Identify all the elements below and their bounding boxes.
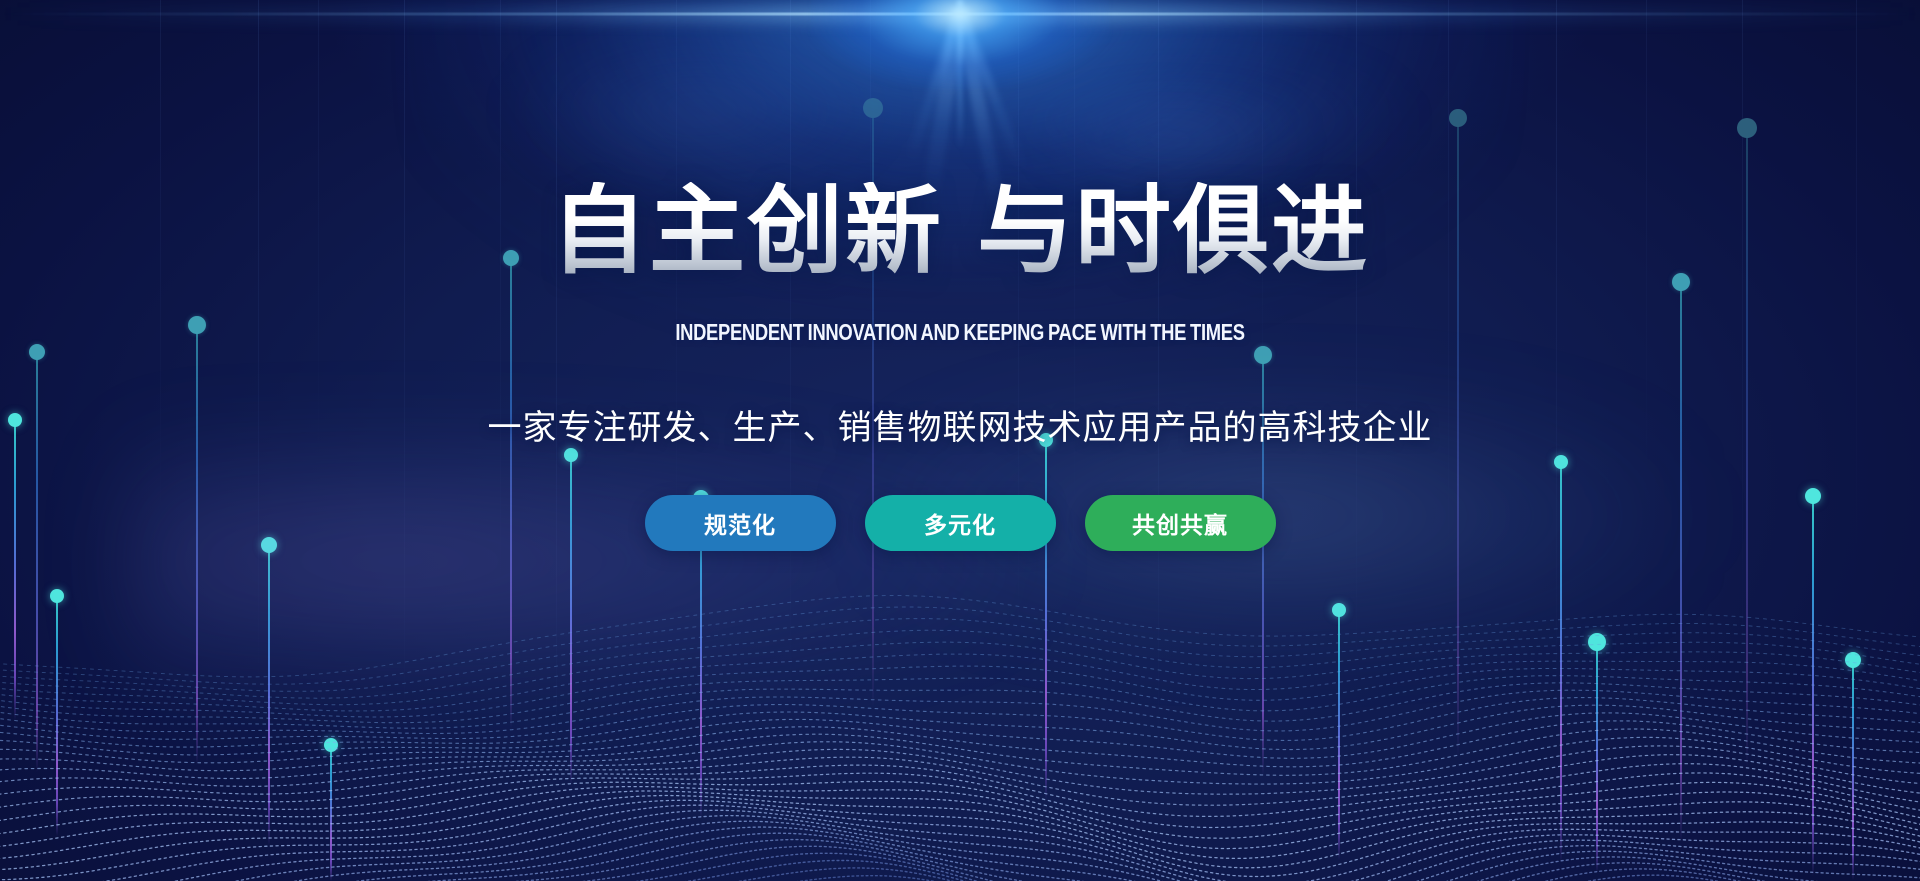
page-title: 自主创新与时俱进 bbox=[0, 182, 1920, 282]
pill-standardization[interactable]: 规范化 bbox=[645, 495, 836, 551]
pill-diversification[interactable]: 多元化 bbox=[865, 495, 1056, 551]
pill-group: 规范化多元化共创共赢 bbox=[0, 495, 1920, 551]
tagline: 一家专注研发、生产、销售物联网技术应用产品的高科技企业 bbox=[0, 400, 1920, 449]
subheadline: INDEPENDENT INNOVATION AND KEEPING PACE … bbox=[192, 319, 1728, 346]
pill-win-win[interactable]: 共创共赢 bbox=[1085, 495, 1276, 551]
banner-stage: 自主创新与时俱进 INDEPENDENT INNOVATION AND KEEP… bbox=[0, 0, 1920, 881]
headline-part-2: 与时俱进 bbox=[977, 175, 1369, 287]
banner-content: 自主创新与时俱进 INDEPENDENT INNOVATION AND KEEP… bbox=[0, 0, 1920, 881]
headline-part-1: 自主创新 bbox=[551, 175, 943, 287]
